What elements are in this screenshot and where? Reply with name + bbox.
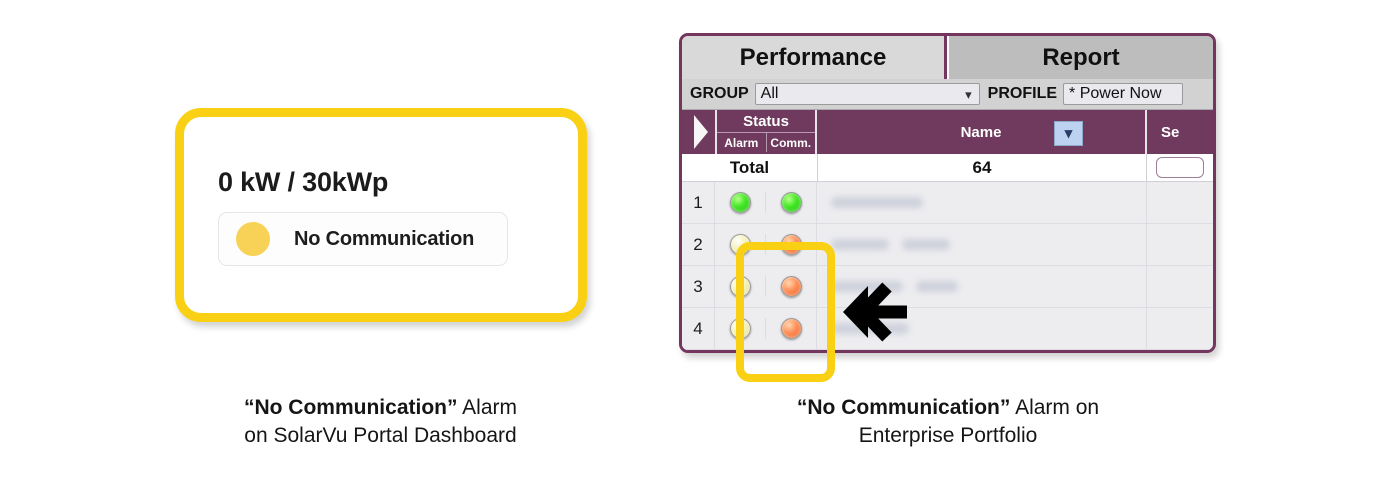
row-status-cells <box>715 266 817 307</box>
caption-right-rest: Alarm on <box>1010 396 1099 419</box>
caption-right: “No Communication” Alarm on Enterprise P… <box>712 394 1184 451</box>
row-name-redacted <box>831 239 950 250</box>
row-status-cells <box>715 182 817 223</box>
profile-label: PROFILE <box>988 85 1057 103</box>
portfolio-table: Status Alarm Comm. Name ▾ Se <box>682 110 1213 350</box>
group-label: GROUP <box>690 85 749 103</box>
table-row[interactable]: 3 <box>682 266 1213 308</box>
alarm-status-cell <box>715 276 766 297</box>
status-header-label: Status <box>717 110 815 132</box>
table-row[interactable]: 2 <box>682 224 1213 266</box>
caption-left-line1: “No Communication” Alarm <box>148 394 613 422</box>
alarm-status-dot-icon <box>236 222 270 256</box>
tab-performance[interactable]: Performance <box>682 36 947 79</box>
caption-right-quoted: “No Communication” <box>797 396 1011 419</box>
tab-report[interactable]: Report <box>947 36 1213 79</box>
caption-left-line2: on SolarVu Portal Dashboard <box>148 422 613 450</box>
filter-bar: GROUP All ▾ PROFILE * Power Now <box>682 79 1213 110</box>
led-pale-icon <box>730 276 751 297</box>
total-label: Total <box>682 154 818 181</box>
alarm-subheader-label: Alarm <box>717 132 767 152</box>
se-header-label: Se <box>1161 124 1179 141</box>
row-se-cell <box>1147 224 1213 265</box>
led-pale-icon <box>730 318 751 339</box>
screenshot-stage: 0 kW / 30kWp No Communication Performanc… <box>0 0 1400 494</box>
dashboard-card: 0 kW / 30kWp No Communication <box>175 108 587 322</box>
alarm-status-pill[interactable]: No Communication <box>218 212 508 266</box>
row-status-cells <box>715 308 817 349</box>
solarvu-dashboard-panel: 0 kW / 30kWp No Communication <box>175 108 587 322</box>
alarm-status-cell <box>715 192 766 213</box>
led-pale-icon <box>730 234 751 255</box>
table-row[interactable]: 1 <box>682 182 1213 224</box>
table-total-row: Total 64 <box>682 154 1213 182</box>
power-readout: 0 kW / 30kWp <box>218 167 388 198</box>
row-se-cell <box>1147 308 1213 349</box>
comm-status-cell <box>766 318 816 339</box>
row-name-cell <box>817 182 1147 223</box>
caption-right-line2: Enterprise Portfolio <box>712 422 1184 450</box>
row-se-cell <box>1147 266 1213 307</box>
alarm-status-cell <box>715 234 766 255</box>
expand-column-header[interactable] <box>682 110 715 154</box>
chevron-down-icon: ▾ <box>965 88 972 101</box>
tab-strip: Performance Report <box>682 36 1213 79</box>
row-status-cells <box>715 224 817 265</box>
total-se-field[interactable] <box>1147 154 1213 181</box>
led-green-icon <box>781 192 802 213</box>
pointer-arrow-icon <box>841 281 909 343</box>
row-se-cell <box>1147 182 1213 223</box>
comm-status-cell <box>766 192 816 213</box>
profile-select-value: * Power Now <box>1069 85 1161 103</box>
comm-status-cell <box>766 276 816 297</box>
comm-status-cell <box>766 234 816 255</box>
alarm-status-label: No Communication <box>294 228 474 251</box>
led-orange-icon <box>781 276 802 297</box>
triangle-right-icon <box>694 115 708 149</box>
row-index: 3 <box>682 266 715 307</box>
name-column-header[interactable]: Name ▾ <box>817 110 1147 154</box>
group-select-value: All <box>761 85 779 103</box>
row-name-redacted <box>831 197 923 208</box>
caption-right-line1: “No Communication” Alarm on <box>712 394 1184 422</box>
name-sort-dropdown-icon[interactable]: ▾ <box>1054 121 1083 146</box>
row-index: 4 <box>682 308 715 349</box>
enterprise-portfolio-panel: Performance Report GROUP All ▾ PROFILE *… <box>679 33 1216 353</box>
row-index: 2 <box>682 224 715 265</box>
status-subheaders: Alarm Comm. <box>717 132 815 152</box>
alarm-status-cell <box>715 318 766 339</box>
row-index: 1 <box>682 182 715 223</box>
se-column-header[interactable]: Se <box>1147 110 1213 154</box>
total-count: 64 <box>818 154 1147 181</box>
led-green-icon <box>730 192 751 213</box>
group-select[interactable]: All ▾ <box>755 83 980 105</box>
row-name-cell <box>817 224 1147 265</box>
status-column-header: Status Alarm Comm. <box>715 110 817 154</box>
table-header-row: Status Alarm Comm. Name ▾ Se <box>682 110 1213 154</box>
led-orange-icon <box>781 318 802 339</box>
led-orange-icon <box>781 234 802 255</box>
portfolio-window: Performance Report GROUP All ▾ PROFILE *… <box>679 33 1216 353</box>
table-row[interactable]: 4 <box>682 308 1213 350</box>
caption-left-quoted: “No Communication” <box>244 396 458 419</box>
caption-left: “No Communication” Alarm on SolarVu Port… <box>148 394 613 451</box>
profile-select[interactable]: * Power Now <box>1063 83 1183 105</box>
name-header-label: Name <box>961 124 1002 141</box>
caption-left-rest: Alarm <box>457 396 517 419</box>
comm-subheader-label: Comm. <box>767 132 816 152</box>
